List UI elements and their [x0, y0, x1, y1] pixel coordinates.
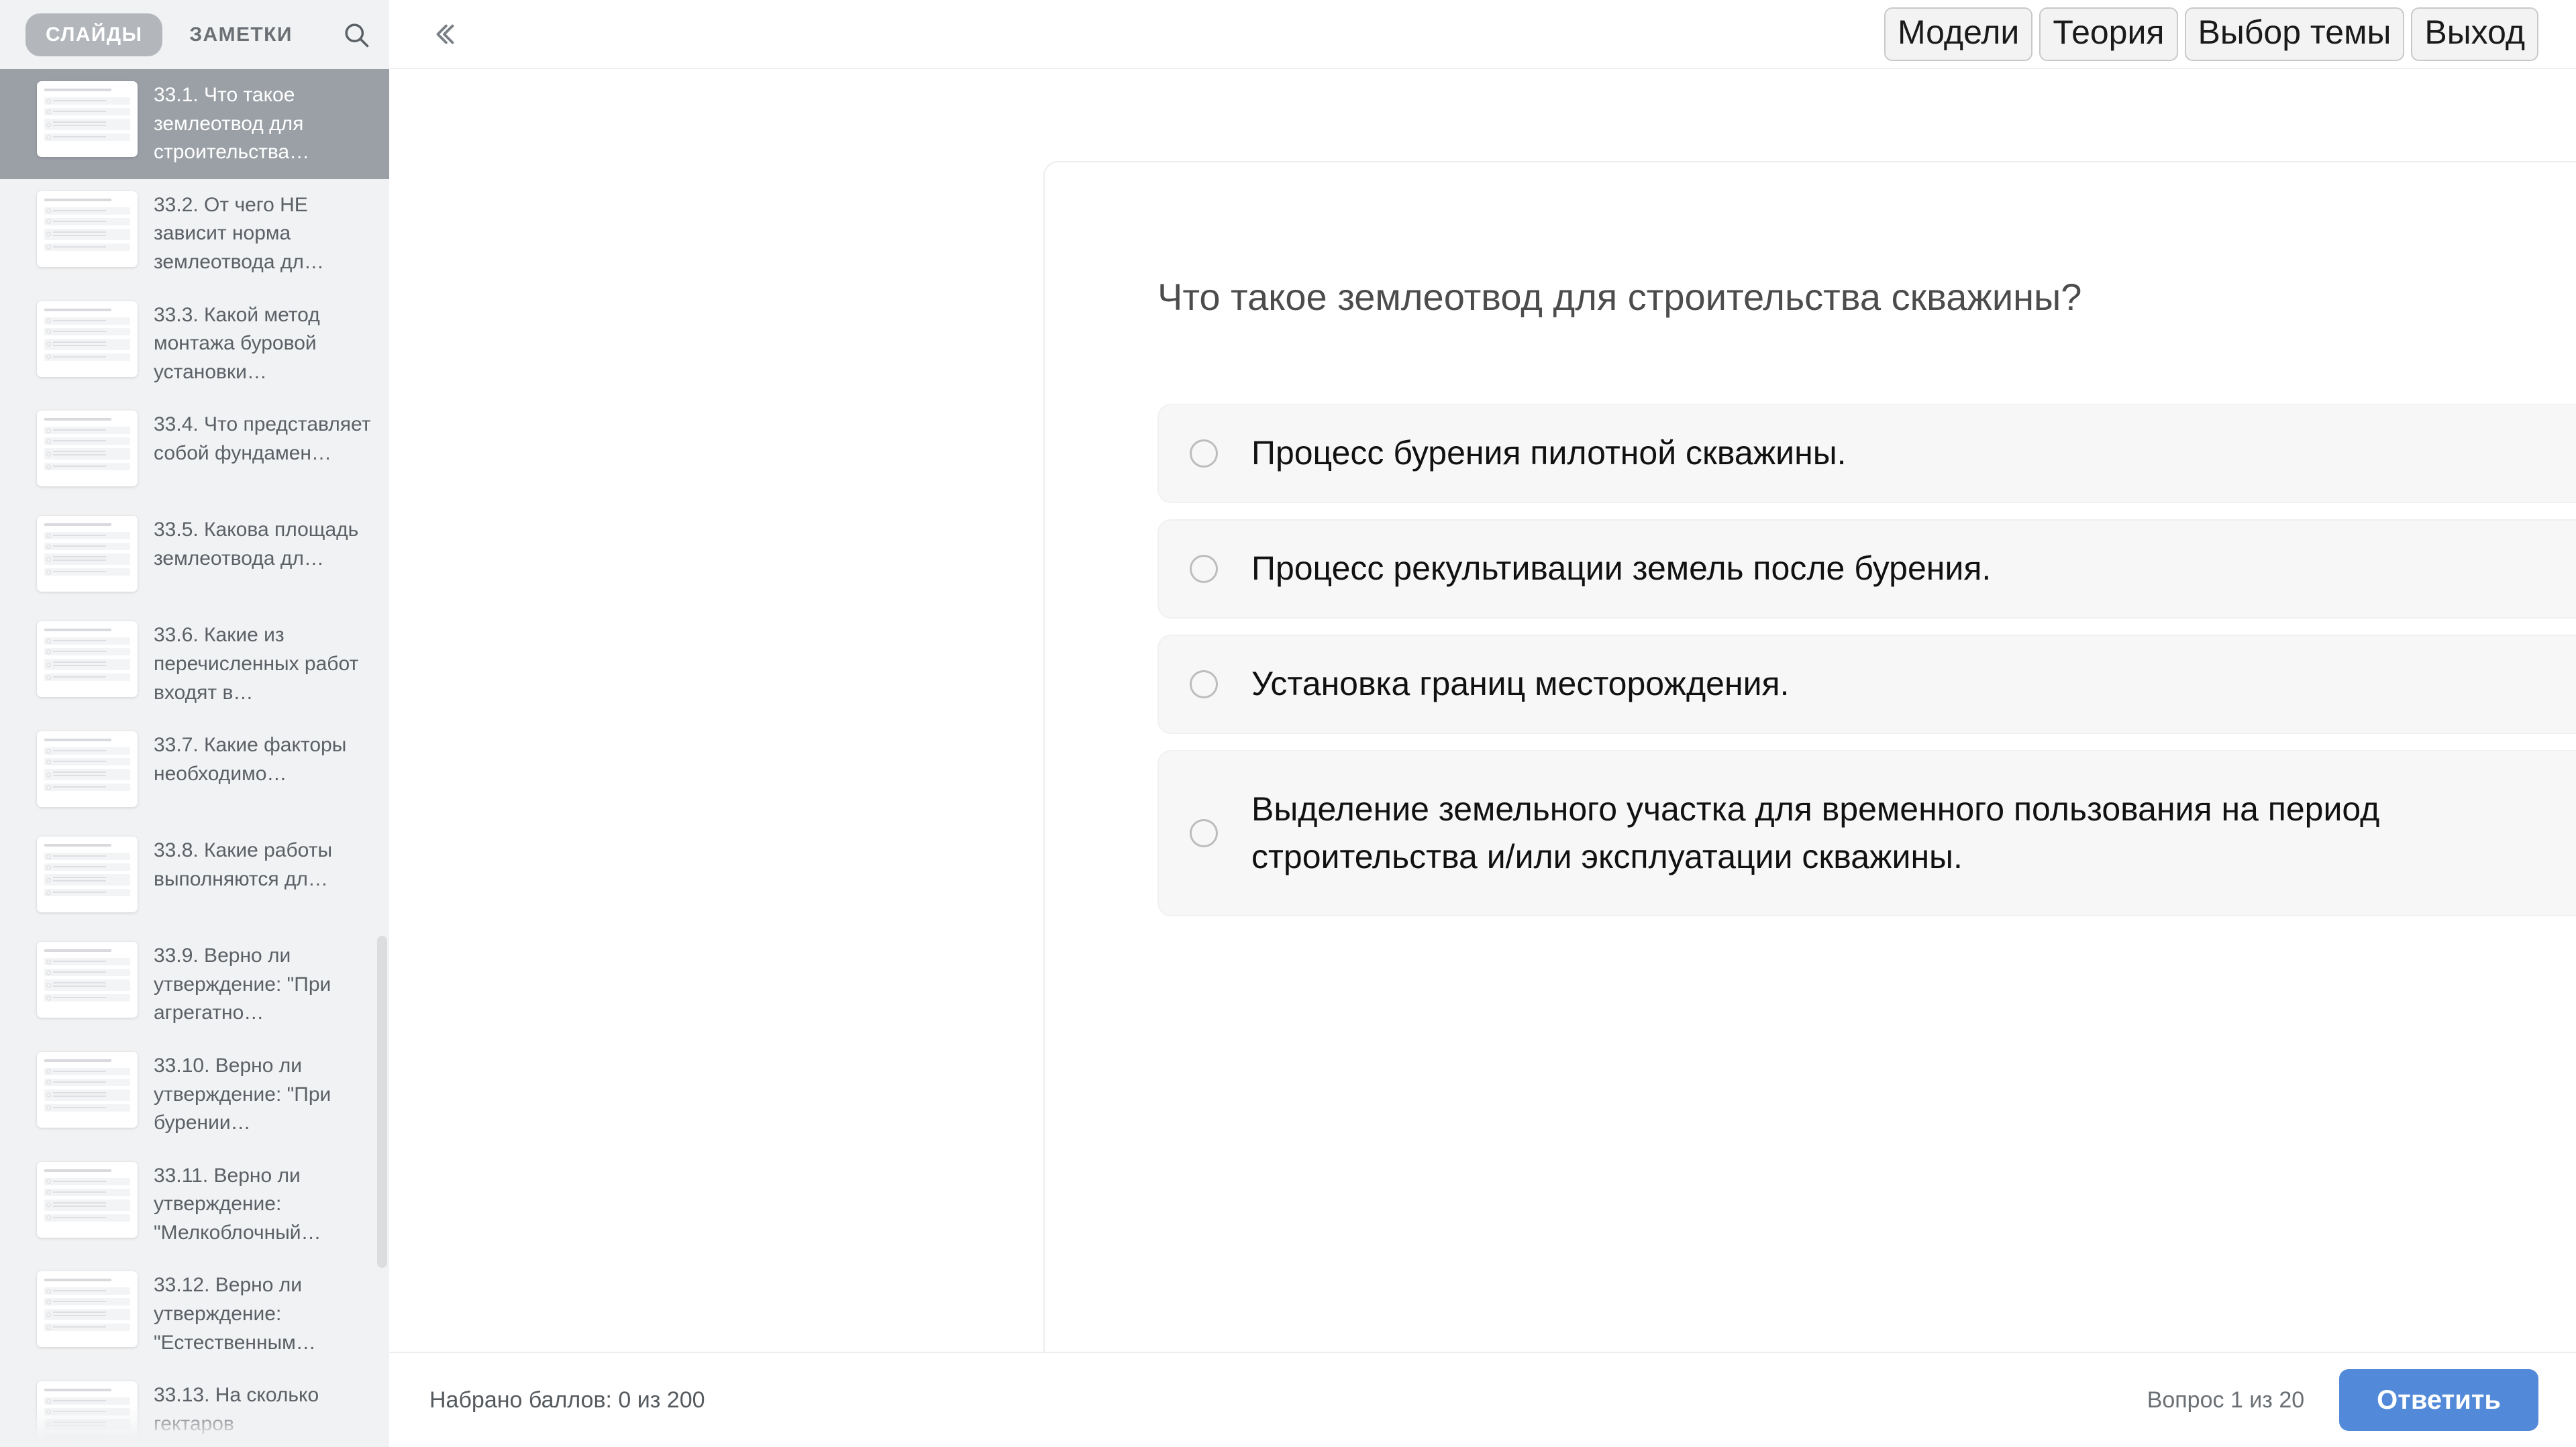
- slide-item-label: 33.9. Верно ли утверждение: "При агрегат…: [138, 942, 372, 1028]
- answer-option-label: Установка границ месторождения.: [1251, 660, 2559, 708]
- slide-list-item[interactable]: 33.10. Верно ли утверждение: "При бурени…: [0, 1040, 389, 1150]
- slide-thumbnail: [37, 1162, 138, 1238]
- slide-list-item[interactable]: 33.3. Какой метод монтажа буровой устано…: [0, 289, 389, 399]
- main-panel: Модели Теория Выбор темы Выход Что такое…: [389, 0, 2576, 1447]
- slide-thumbnail: [37, 411, 138, 486]
- slide-item-label: 33.5. Какова площадь землеотвода дл…: [138, 516, 372, 573]
- tab-notes[interactable]: ЗАМЕТКИ: [169, 13, 312, 56]
- slide-thumbnail: [37, 81, 138, 157]
- slide-list-item[interactable]: 33.4. Что представляет собой фундамен…: [0, 398, 389, 504]
- slide-list-item[interactable]: 33.6. Какие из перечисленных работ входя…: [0, 609, 389, 719]
- slide-list-item[interactable]: 33.9. Верно ли утверждение: "При агрегат…: [0, 930, 389, 1040]
- slide-item-label: 33.3. Какой метод монтажа буровой устано…: [138, 301, 372, 387]
- slide-item-label: 33.11. Верно ли утверждение: "Мелкоблочн…: [138, 1162, 372, 1248]
- answer-option[interactable]: Процесс бурения пилотной скважины.: [1157, 404, 2576, 503]
- chevron-double-left-icon[interactable]: [423, 13, 466, 56]
- slide-item-label: 33.2. От чего НЕ зависит норма землеотво…: [138, 191, 372, 277]
- sidebar-scrollbar-thumb[interactable]: [377, 936, 387, 1268]
- answer-option[interactable]: Установка границ месторождения.: [1157, 635, 2576, 734]
- slide-item-label: 33.1. Что такое землеотвод для строитель…: [138, 81, 372, 167]
- slide-thumbnail: [37, 731, 138, 807]
- slide-thumbnail: [37, 191, 138, 267]
- answer-option[interactable]: Выделение земельного участка для временн…: [1157, 750, 2576, 916]
- slide-list-item[interactable]: 33.1. Что такое землеотвод для строитель…: [0, 69, 389, 179]
- answer-option-label: Процесс бурения пилотной скважины.: [1251, 429, 2559, 477]
- slide-list-item[interactable]: 33.11. Верно ли утверждение: "Мелкоблочн…: [0, 1150, 389, 1260]
- slide-item-label: 33.8. Какие работы выполняются дл…: [138, 837, 372, 894]
- slide-thumbnail: [37, 301, 138, 377]
- slides-sidebar: СЛАЙДЫ ЗАМЕТКИ 33.1. Что такое землеотво…: [0, 0, 389, 1447]
- sidebar-scrollbar-track[interactable]: [377, 69, 388, 1447]
- slide-item-label: 33.6. Какие из перечисленных работ входя…: [138, 621, 372, 707]
- slide-thumbnail: [37, 1271, 138, 1347]
- slide-thumbnail-list[interactable]: 33.1. Что такое землеотвод для строитель…: [0, 69, 389, 1447]
- sidebar-toolbar: СЛАЙДЫ ЗАМЕТКИ: [0, 0, 389, 69]
- slide-thumbnail: [37, 621, 138, 697]
- question-title: Что такое землеотвод для строительства с…: [1157, 273, 2576, 322]
- nav-button-topic-select[interactable]: Выбор темы: [2185, 7, 2405, 61]
- question-card: Что такое землеотвод для строительства с…: [1043, 161, 2576, 1352]
- score-text: Набрано баллов: 0 из 200: [429, 1387, 705, 1413]
- search-icon[interactable]: [337, 15, 376, 54]
- nav-button-exit[interactable]: Выход: [2411, 7, 2538, 61]
- slide-list-item[interactable]: 33.13. На сколько гектаров увеличивается…: [0, 1369, 389, 1447]
- slide-list-item[interactable]: 33.12. Верно ли утверждение: "Естественн…: [0, 1259, 389, 1369]
- slide-thumbnail: [37, 942, 138, 1018]
- top-nav-buttons: Модели Теория Выбор темы Выход: [1884, 7, 2555, 61]
- slide-thumbnail: [37, 516, 138, 592]
- radio-button-icon[interactable]: [1190, 439, 1218, 468]
- slide-item-label: 33.12. Верно ли утверждение: "Естественн…: [138, 1271, 372, 1357]
- answer-button[interactable]: Ответить: [2339, 1369, 2538, 1431]
- slide-thumbnail: [37, 1381, 138, 1447]
- question-counter: Вопрос 1 из 20: [2147, 1387, 2304, 1413]
- radio-button-icon[interactable]: [1190, 670, 1218, 698]
- slide-list-item[interactable]: 33.5. Какова площадь землеотвода дл…: [0, 504, 389, 609]
- slide-thumbnail: [37, 837, 138, 912]
- slide-item-label: 33.10. Верно ли утверждение: "При бурени…: [138, 1052, 372, 1138]
- main-body: Что такое землеотвод для строительства с…: [389, 69, 2576, 1352]
- slide-list-item[interactable]: 33.8. Какие работы выполняются дл…: [0, 824, 389, 930]
- radio-button-icon[interactable]: [1190, 555, 1218, 583]
- app-root: СЛАЙДЫ ЗАМЕТКИ 33.1. Что такое землеотво…: [0, 0, 2576, 1447]
- slide-list-item[interactable]: 33.2. От чего НЕ зависит норма землеотво…: [0, 179, 389, 289]
- answer-options-list[interactable]: Процесс бурения пилотной скважины.Процес…: [1157, 404, 2576, 916]
- main-header: Модели Теория Выбор темы Выход: [389, 0, 2576, 69]
- main-footer: Набрано баллов: 0 из 200 Вопрос 1 из 20 …: [389, 1352, 2576, 1447]
- nav-button-models[interactable]: Модели: [1884, 7, 2032, 61]
- tab-slides[interactable]: СЛАЙДЫ: [25, 13, 162, 56]
- radio-button-icon[interactable]: [1190, 819, 1218, 847]
- slide-list-item[interactable]: 33.7. Какие факторы необходимо…: [0, 719, 389, 824]
- slide-item-label: 33.4. Что представляет собой фундамен…: [138, 411, 372, 468]
- slide-thumbnail: [37, 1052, 138, 1128]
- slide-item-label: 33.13. На сколько гектаров увеличивается…: [138, 1381, 372, 1447]
- nav-button-theory[interactable]: Теория: [2039, 7, 2177, 61]
- answer-option-label: Выделение земельного участка для временн…: [1251, 786, 2559, 881]
- slide-item-label: 33.7. Какие факторы необходимо…: [138, 731, 372, 788]
- answer-option[interactable]: Процесс рекультивации земель после бурен…: [1157, 519, 2576, 619]
- answer-option-label: Процесс рекультивации земель после бурен…: [1251, 545, 2559, 592]
